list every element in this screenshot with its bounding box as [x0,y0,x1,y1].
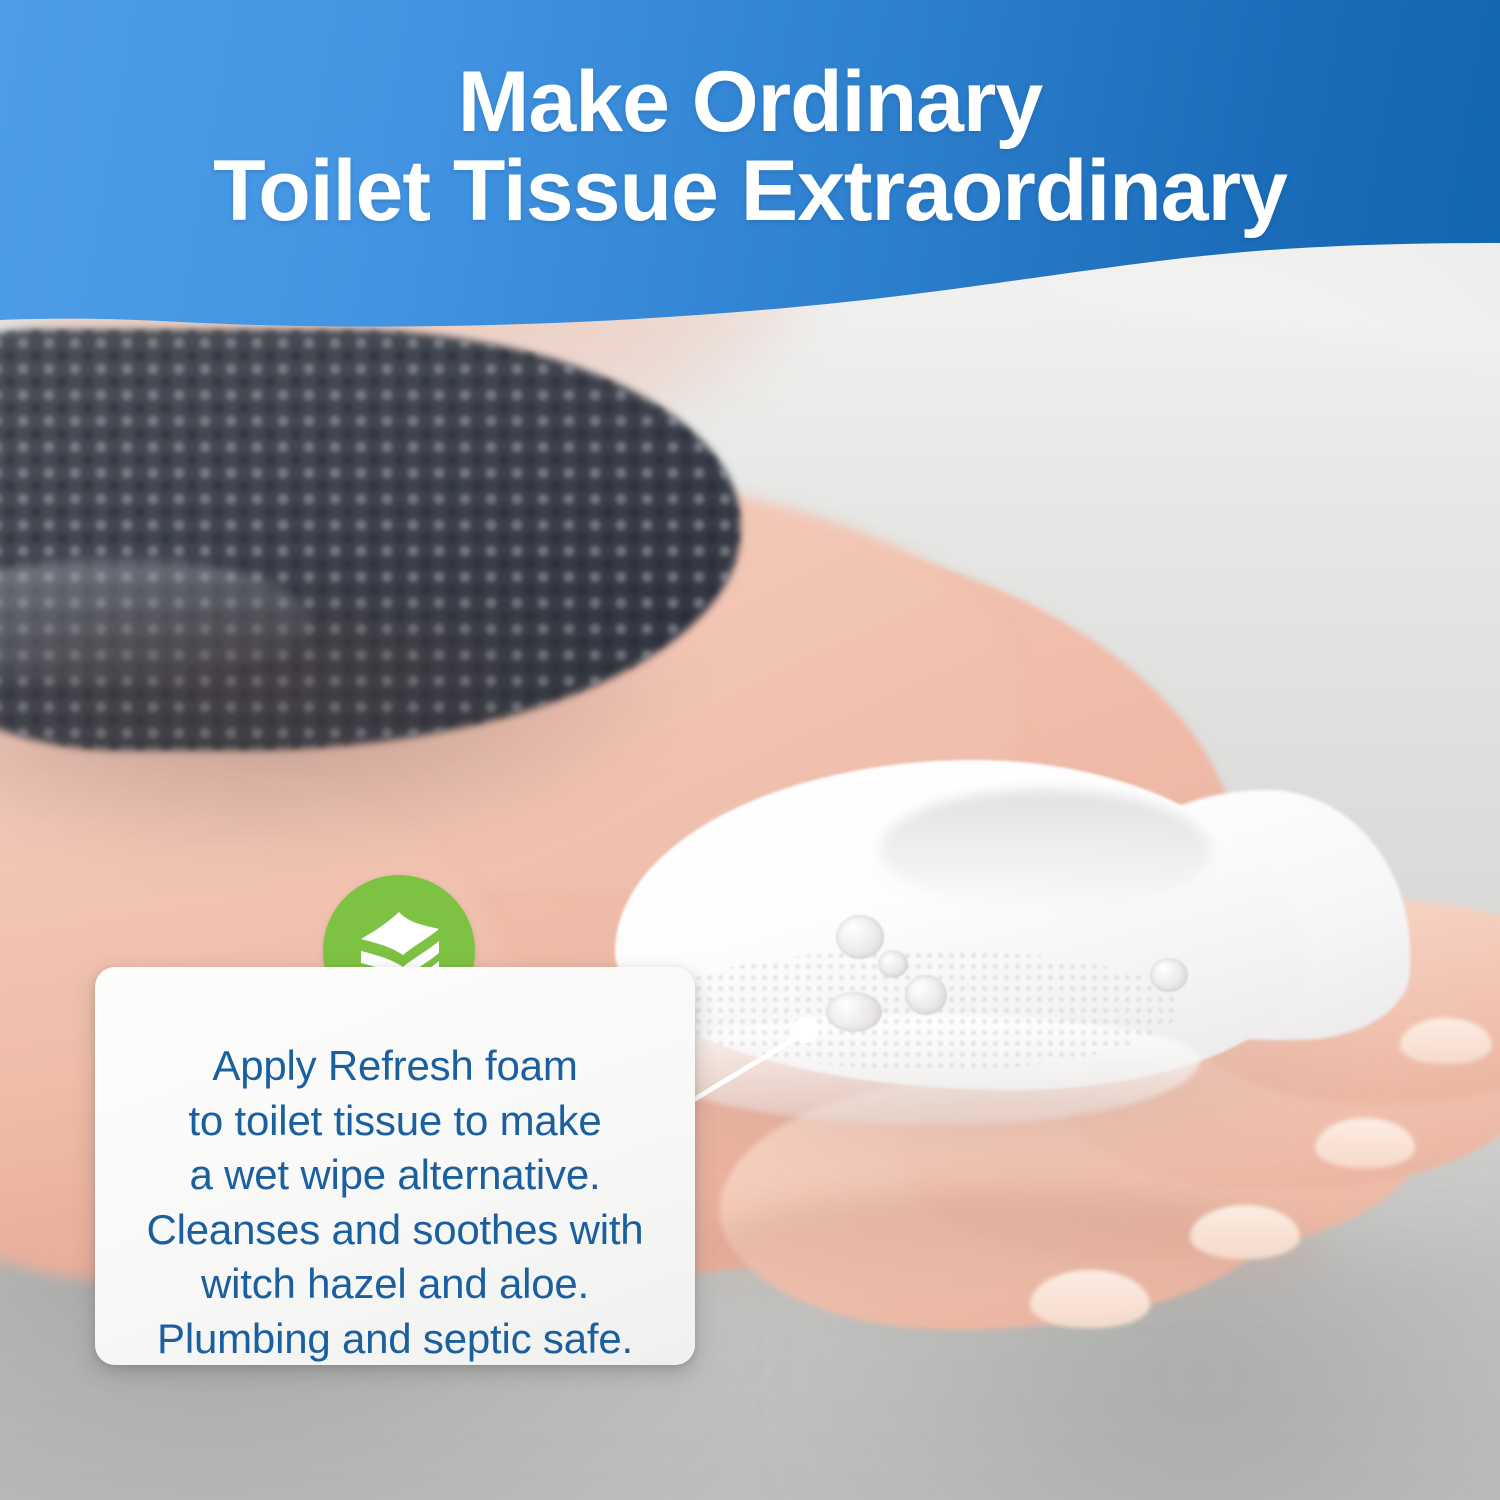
foam-bubble [826,992,882,1032]
foam-bubble [878,950,908,978]
foam-bubble [836,915,884,959]
fingernail [1400,1018,1492,1064]
foam-bubble [905,975,947,1015]
foam-bubble [1150,958,1188,992]
product-infographic: Make Ordinary Toilet Tissue Extraordinar… [0,0,1500,1500]
headline-line-1: Make Ordinary [0,58,1500,147]
foam-fold-highlight [880,790,1210,910]
headline-line-2: Toilet Tissue Extraordinary [0,147,1500,236]
callout-line-5: witch hazel and aloe. [95,1257,695,1312]
callout-line-1: Apply Refresh foam [95,1039,695,1094]
callout-line-4: Cleanses and soothes with [95,1203,695,1258]
callout-line-2: to toilet tissue to make [95,1094,695,1149]
callout-line-3: a wet wipe alternative. [95,1148,695,1203]
callout-card: Apply Refresh foam to toilet tissue to m… [95,967,695,1365]
sweater-shadow [0,600,680,860]
callout-card-text: Apply Refresh foam to toilet tissue to m… [95,1039,695,1367]
page-title: Make Ordinary Toilet Tissue Extraordinar… [0,58,1500,237]
callout-line-6: Plumbing and septic safe. [95,1312,695,1367]
